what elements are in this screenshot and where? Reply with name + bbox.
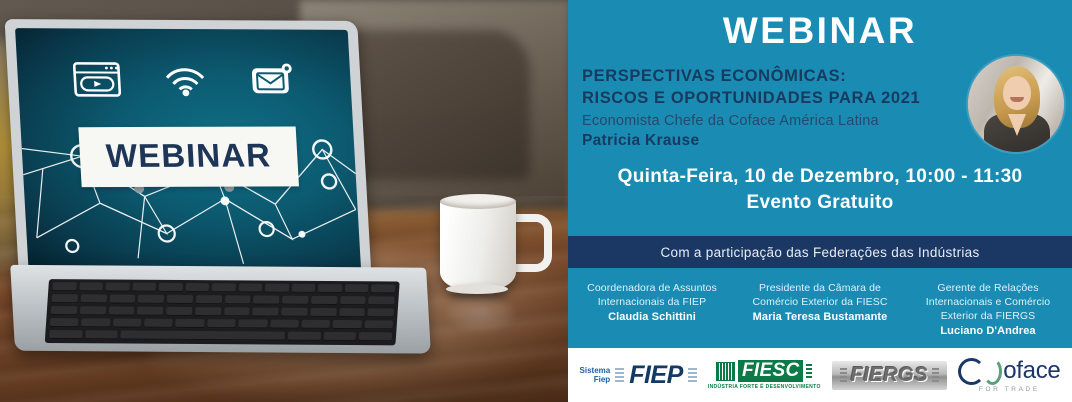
coface-row: oface bbox=[958, 358, 1060, 385]
coface-tagline: FOR TRADE bbox=[979, 386, 1040, 393]
speaker-role-line: Internacionais e Comércio bbox=[910, 296, 1066, 310]
speaker-role-line: Presidente da Câmara de bbox=[742, 282, 898, 296]
speaker-role-line: Gerente de Relações bbox=[910, 282, 1066, 296]
fiep-prefix: Sistema Fiep bbox=[580, 366, 611, 384]
fiergs-wordmark: FIERGS bbox=[851, 364, 928, 387]
video-player-icon bbox=[72, 60, 122, 98]
info-panel: WEBINAR PERSPECTIVAS ECONÔMICAS: RISCOS … bbox=[568, 0, 1072, 402]
webinar-banner: WEBINAR WEBINAR bbox=[0, 0, 1072, 402]
speaker-column-2: Presidente da Câmara de Comércio Exterio… bbox=[736, 282, 904, 337]
fiesc-logo: FIESC INDÚSTRIA FORTE É DESENVOLVIMENTO bbox=[708, 360, 821, 390]
laptop-base bbox=[10, 265, 431, 354]
speaker-avatar bbox=[968, 56, 1064, 152]
speaker-name: Luciano D'Andrea bbox=[910, 325, 1066, 337]
coface-arc-icon bbox=[983, 358, 1002, 385]
event-datetime: Quinta-Feira, 10 de Dezembro, 10:00 - 11… bbox=[568, 150, 1072, 216]
event-date-line: Quinta-Feira, 10 de Dezembro, 10:00 - 11… bbox=[568, 164, 1072, 190]
fiergs-logo: FIERGS bbox=[832, 361, 947, 390]
fiergs-bars-left-icon bbox=[840, 368, 847, 382]
logo-bar: Sistema Fiep FIEP FIESC INDÚSTRIA FORTE … bbox=[568, 348, 1072, 402]
fiep-logo: Sistema Fiep FIEP bbox=[580, 361, 697, 390]
fiep-bars-left-icon bbox=[615, 368, 624, 382]
speaker-role-line: Comércio Exterior da FIESC bbox=[742, 296, 898, 310]
mug-foot bbox=[446, 284, 508, 294]
laptop-lid: WEBINAR bbox=[5, 19, 372, 280]
fiep-prefix-line-2: Fiep bbox=[580, 375, 611, 384]
speaker-role-line: Coordenadora de Assuntos bbox=[574, 282, 730, 296]
screen-icon-row bbox=[17, 60, 352, 100]
fiep-wordmark: FIEP bbox=[629, 361, 683, 390]
hero-photo: WEBINAR bbox=[0, 0, 568, 402]
fiesc-tagline: INDÚSTRIA FORTE É DESENVOLVIMENTO bbox=[708, 384, 821, 390]
fiep-prefix-line-1: Sistema bbox=[580, 366, 611, 375]
email-icon bbox=[248, 61, 296, 99]
fiep-bars-right-icon bbox=[688, 368, 697, 382]
headline-line-1: PERSPECTIVAS ECONÔMICAS: bbox=[582, 65, 962, 87]
speaker-role-line: Exterior da FIERGS bbox=[910, 310, 1066, 324]
laptop-keyboard bbox=[45, 279, 400, 345]
speaker-column-3: Gerente de Relações Internacionais e Com… bbox=[904, 282, 1072, 337]
coffee-mug bbox=[436, 192, 532, 304]
fiesc-wordmark: FIESC bbox=[738, 360, 803, 382]
speaker-name: Claudia Schittini bbox=[574, 311, 730, 323]
panel-title: WEBINAR bbox=[568, 0, 1072, 49]
fiesc-mark-icon bbox=[716, 362, 735, 381]
laptop: WEBINAR bbox=[0, 6, 445, 359]
mug-body bbox=[440, 198, 516, 290]
speaker-name: Maria Teresa Bustamante bbox=[742, 311, 898, 323]
wifi-icon bbox=[162, 62, 208, 98]
speaker-role-line: Internacionais da FIEP bbox=[574, 296, 730, 310]
fiesc-bars-icon bbox=[806, 364, 812, 378]
screen-webinar-plate: WEBINAR bbox=[78, 126, 298, 187]
headline-block: PERSPECTIVAS ECONÔMICAS: RISCOS E OPORTU… bbox=[568, 49, 962, 150]
screen-webinar-text: WEBINAR bbox=[105, 137, 272, 176]
speaker-role: Economista Chefe da Coface América Latin… bbox=[582, 113, 962, 129]
avatar-face bbox=[1003, 76, 1031, 110]
speakers-row: Coordenadora de Assuntos Internacionais … bbox=[568, 282, 1072, 337]
laptop-screen: WEBINAR bbox=[15, 28, 361, 269]
fiergs-bars-right-icon bbox=[932, 368, 939, 382]
coface-wordmark: oface bbox=[1003, 359, 1060, 383]
coface-logo: oface FOR TRADE bbox=[958, 358, 1060, 393]
mug-reflection bbox=[448, 296, 514, 330]
speaker-column-1: Coordenadora de Assuntos Internacionais … bbox=[568, 282, 736, 337]
featured-speaker-name: Patricia Krause bbox=[582, 132, 962, 150]
coface-c-icon bbox=[958, 358, 985, 385]
partners-strip: Com a participação das Federações das In… bbox=[568, 236, 1072, 268]
headline-line-2: RISCOS E OPORTUNIDADES PARA 2021 bbox=[582, 87, 962, 109]
fiesc-row: FIESC bbox=[716, 360, 812, 382]
mug-rim bbox=[440, 194, 516, 209]
event-price-line: Evento Gratuito bbox=[568, 190, 1072, 216]
partners-note: Com a participação das Federações das In… bbox=[660, 245, 979, 260]
